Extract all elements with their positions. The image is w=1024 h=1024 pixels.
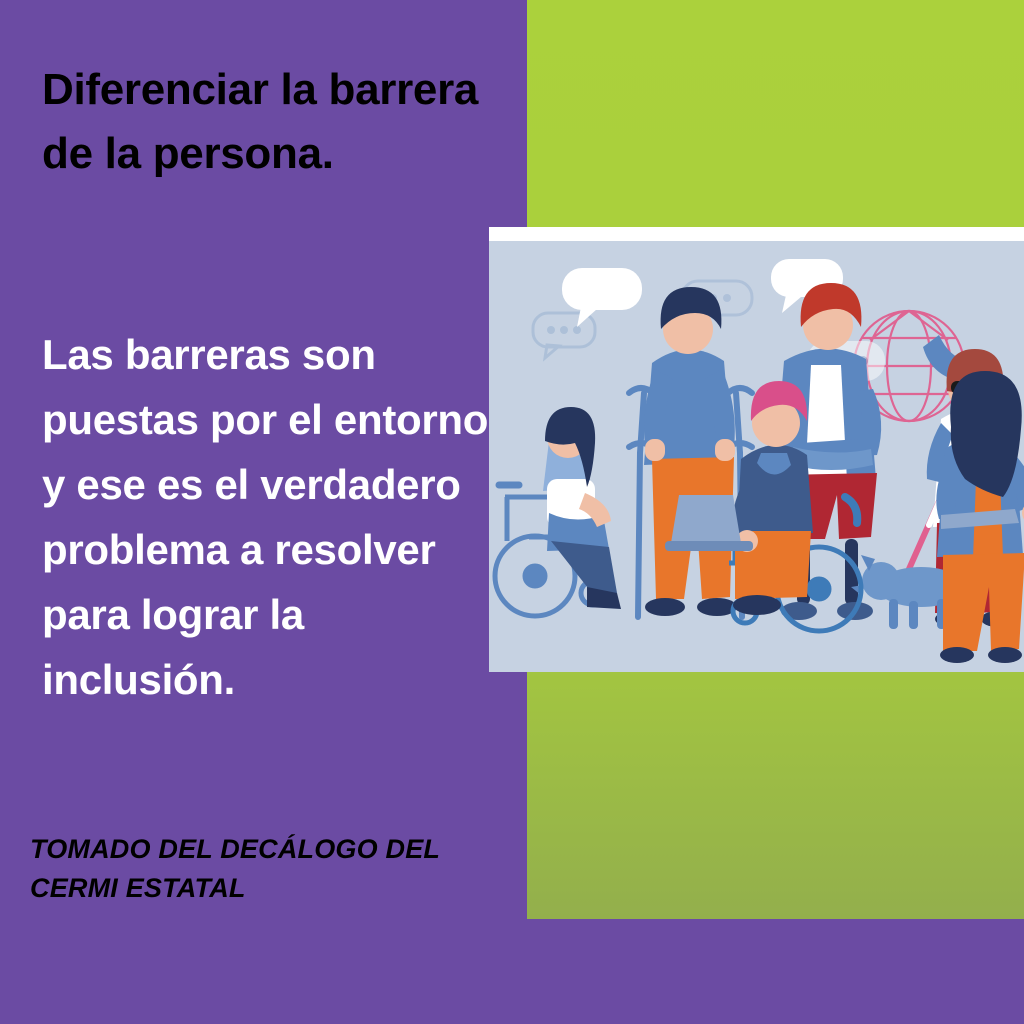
inclusion-illustration [489, 241, 1024, 672]
illustration-canvas [489, 241, 1024, 672]
illustration-panel [489, 227, 1024, 672]
footer-bar: www.fundacionqualis.org.ar @fundacionqua… [0, 919, 1024, 1024]
social-post-canvas: Diferenciar la barrera de la persona. La… [0, 0, 1024, 1024]
body-paragraph: Las barreras son puestas por el entorno … [42, 322, 492, 713]
source-attribution: TOMADO DEL DECÁLOGO DEL CERMI ESTATAL [30, 830, 500, 908]
page-title: Diferenciar la barrera de la persona. [42, 58, 482, 186]
